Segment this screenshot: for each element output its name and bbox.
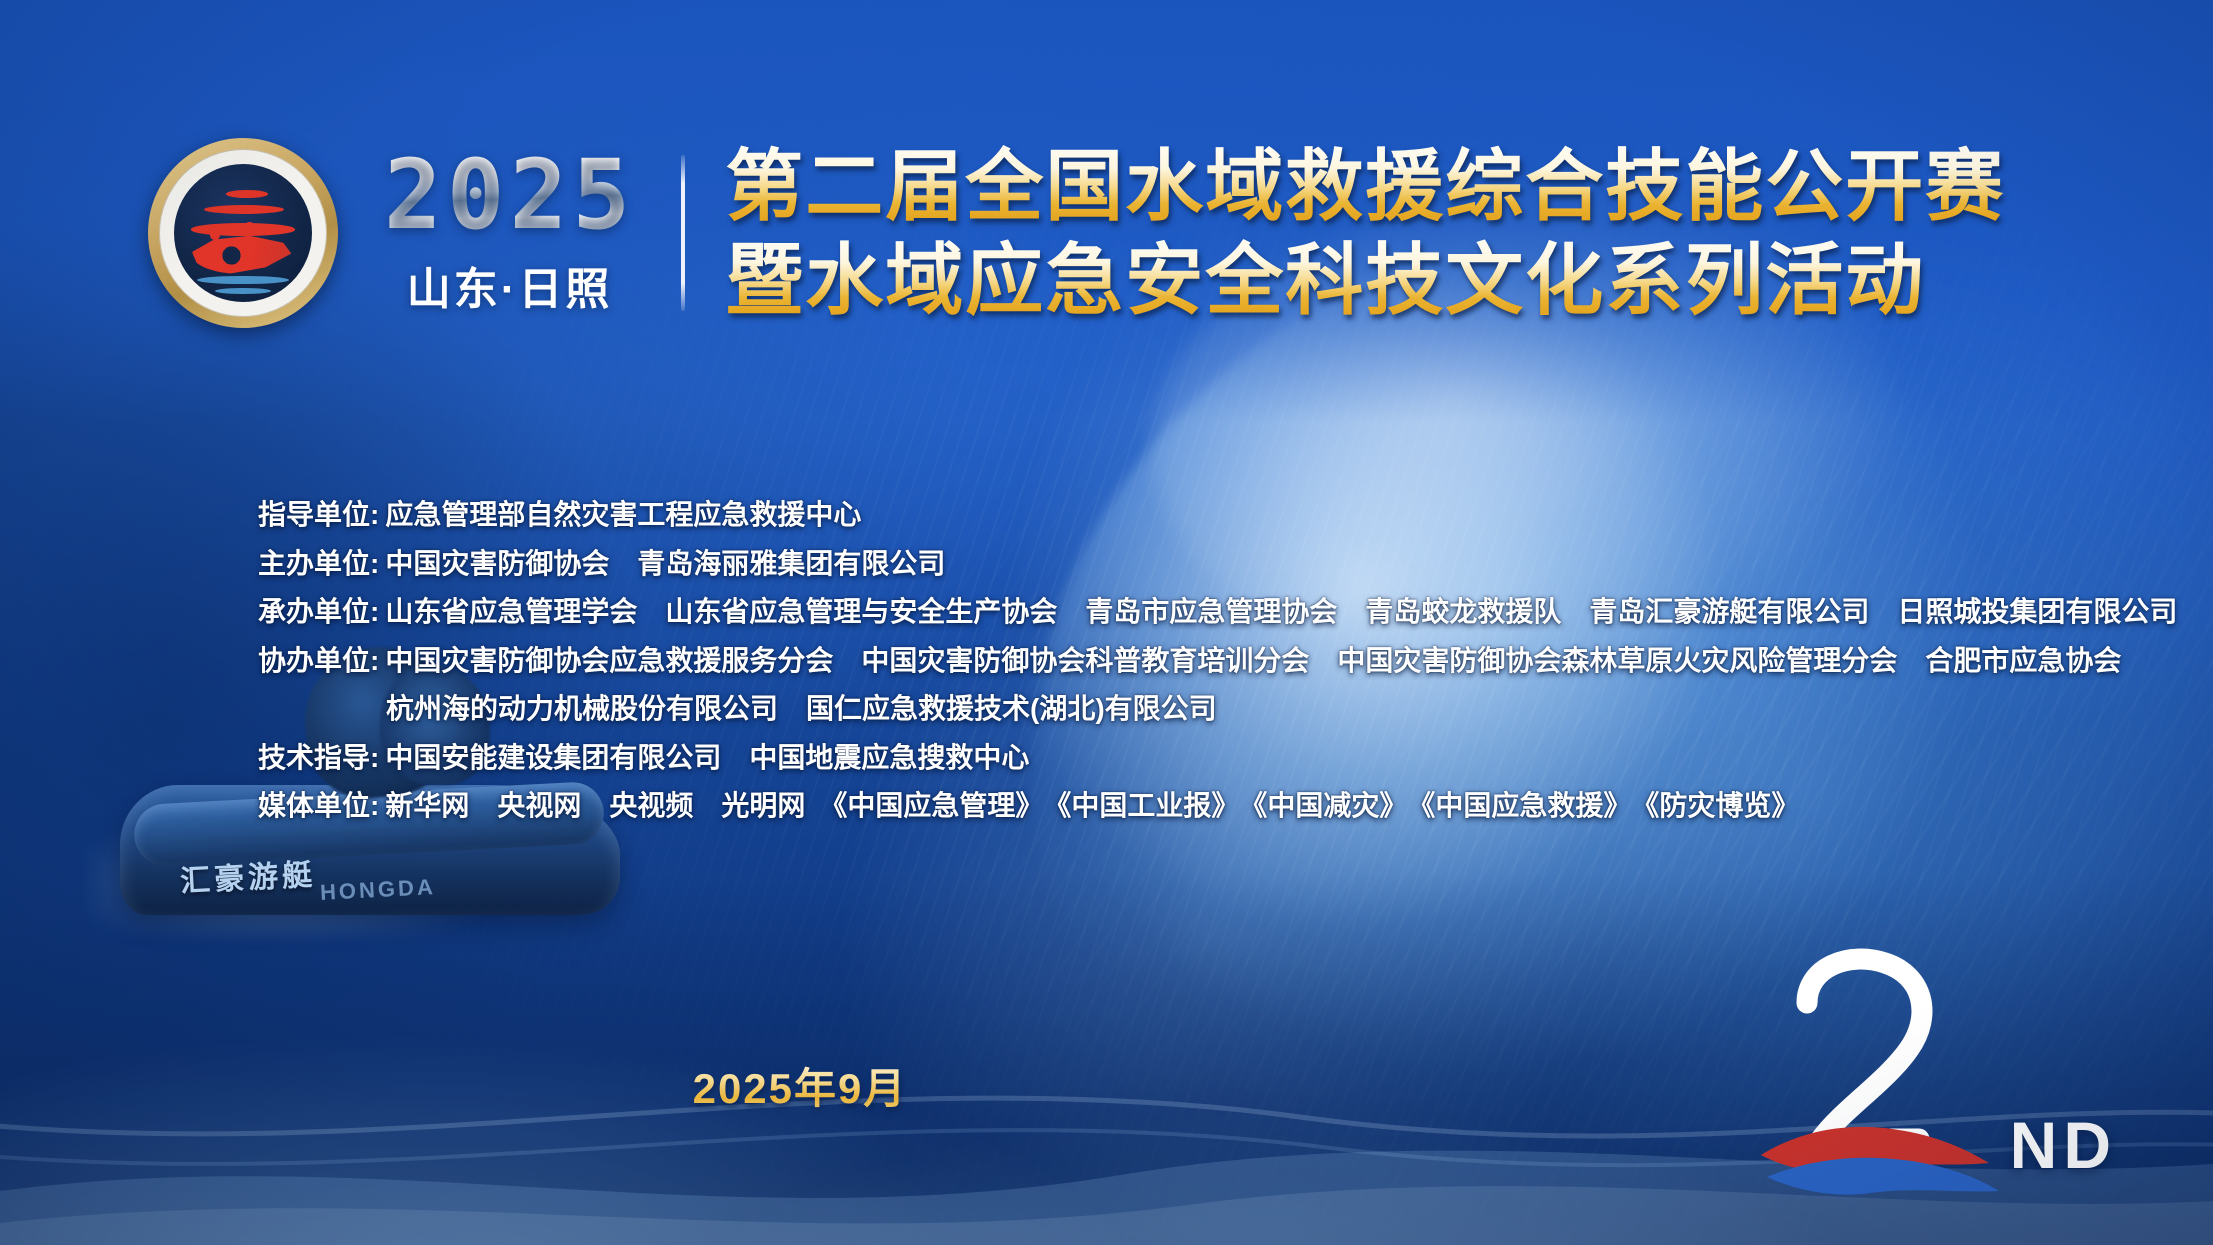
credit-row: 主办单位: 中国灾害防御协会 青岛海丽雅集团有限公司 <box>258 545 2018 583</box>
credit-row-continuation: 杭州海的动力机械股份有限公司 国仁应急救援技术(湖北)有限公司 <box>258 690 2018 728</box>
event-poster: 汇豪游艇 HONGDA 2025 山东·日照 第二届全国水域救援 <box>0 0 2213 1245</box>
credit-label: 主办单位: <box>258 545 379 583</box>
year-label: 2025 <box>384 149 635 241</box>
emblem-wave-2 <box>204 205 284 214</box>
credit-label: 技术指导: <box>258 739 379 777</box>
event-date: 2025年9月 <box>0 1055 1600 1116</box>
credit-row: 协办单位: 中国灾害防御协会应急救援服务分会 中国灾害防御协会科普教育培训分会 … <box>258 642 2018 680</box>
credit-row: 媒体单位: 新华网 央视网 央视频 光明网 《中国应急管理》 《中国工业报》 《… <box>258 787 2018 825</box>
emblem-wave-3 <box>191 223 296 235</box>
year-city-block: 2025 山东·日照 <box>384 149 635 317</box>
credit-row: 技术指导: 中国安能建设集团有限公司 中国地震应急搜救中心 <box>258 739 2018 777</box>
credit-row: 指导单位: 应急管理部自然灾害工程应急救援中心 <box>258 496 2018 534</box>
title-line-2: 暨水域应急安全科技文化系列活动 <box>725 236 2005 324</box>
title-line-1: 第二届全国水域救援综合技能公开赛 <box>725 142 2005 230</box>
credit-label: 承办单位: <box>258 593 379 631</box>
city-label: 山东·日照 <box>407 253 613 317</box>
credit-value: 新华网 央视网 央视频 光明网 《中国应急管理》 《中国工业报》 《中国减灾》 … <box>385 787 1799 825</box>
credit-value: 中国灾害防御协会 青岛海丽雅集团有限公司 <box>385 545 945 583</box>
emblem-wave-1 <box>226 190 267 198</box>
credit-value: 应急管理部自然灾害工程应急救援中心 <box>385 496 861 534</box>
emblem-sea-line-1 <box>197 276 288 284</box>
emblem-core <box>174 164 312 302</box>
credit-value: 山东省应急管理学会 山东省应急管理与安全生产协会 青岛市应急管理协会 青岛蛟龙救… <box>385 593 2177 631</box>
water-rescue-emblem-icon <box>148 138 338 328</box>
emblem-sea-line-2 <box>215 288 270 294</box>
edition-ordinal: ND <box>2010 1107 2117 1183</box>
credit-value: 中国安能建设集团有限公司 中国地震应急搜救中心 <box>385 739 1029 777</box>
boat-brand-text: 汇豪游艇 <box>179 849 317 900</box>
poster-header: 2025 山东·日照 第二届全国水域救援综合技能公开赛 暨水域应急安全科技文化系… <box>0 138 2213 328</box>
credit-label: 媒体单位: <box>258 787 379 825</box>
vertical-divider <box>681 155 685 311</box>
credit-value: 杭州海的动力机械股份有限公司 国仁应急救援技术(湖北)有限公司 <box>386 690 1217 728</box>
credit-value: 中国灾害防御协会应急救援服务分会 中国灾害防御协会科普教育培训分会 中国灾害防御… <box>385 642 2121 680</box>
credit-label: 指导单位: <box>258 496 379 534</box>
credits-block: 指导单位: 应急管理部自然灾害工程应急救援中心 主办单位: 中国灾害防御协会 青… <box>258 496 2018 825</box>
credit-row: 承办单位: 山东省应急管理学会 山东省应急管理与安全生产协会 青岛市应急管理协会… <box>258 593 2018 631</box>
second-edition-mark-icon: ND <box>1737 941 2117 1201</box>
credit-label: 协办单位: <box>258 642 379 680</box>
title-block: 第二届全国水域救援综合技能公开赛 暨水域应急安全科技文化系列活动 <box>725 142 2005 324</box>
emblem-dot-2 <box>210 230 220 240</box>
